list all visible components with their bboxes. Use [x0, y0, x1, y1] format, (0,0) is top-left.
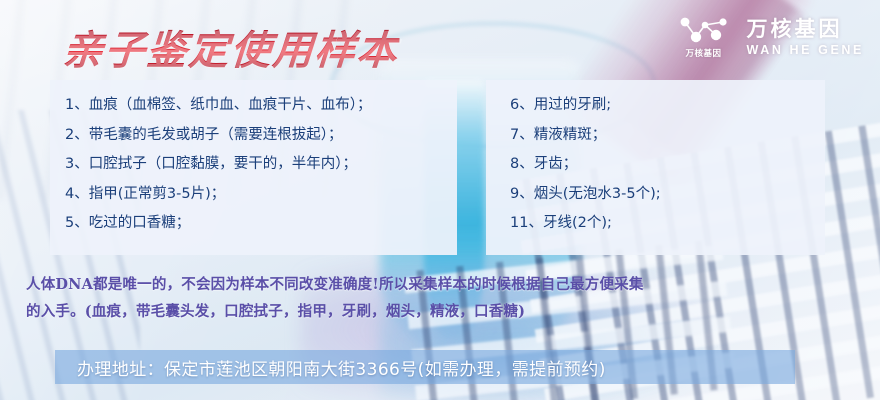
brand-name-en: WAN HE GENE — [747, 43, 865, 58]
list-item: 1、血痕（血棉签、纸巾血、血痕干片、血布）； — [50, 98, 457, 113]
list-item: 5、吃过的口香糖； — [50, 216, 457, 231]
sample-list-right: 6、用过的牙刷; 7、精液精斑； 8、牙齿； 9、烟头(无泡水3-5个); 11… — [486, 80, 825, 231]
brand-logo: 万核基因 万核基因 WAN HE GENE — [673, 16, 865, 60]
list-item: 2、带毛囊的毛发或胡子（需要连根拔起）； — [50, 128, 457, 143]
sample-list-panel-right: 6、用过的牙刷; 7、精液精斑； 8、牙齿； 9、烟头(无泡水3-5个); 11… — [486, 80, 825, 255]
list-item: 9、烟头(无泡水3-5个); — [486, 187, 825, 202]
list-item: 8、牙齿； — [486, 157, 825, 172]
note-line-1: 人体DNA都是唯一的，不会因为样本不同改变准确度!所以采集样本的时候根据自己最方… — [26, 272, 861, 299]
poster-root: 亲子鉴定使用样本 万核基因 万核基因 WAN HE GENE 1、血痕（血棉签 — [0, 0, 880, 400]
list-item: 7、精液精斑； — [486, 128, 825, 143]
list-item: 4、指甲(正常剪3-5片)； — [50, 187, 457, 202]
sample-list-panel-left: 1、血痕（血棉签、纸巾血、血痕干片、血布）； 2、带毛囊的毛发或胡子（需要连根拔… — [50, 80, 457, 255]
logo-mark: 万核基因 — [673, 16, 735, 60]
list-item: 6、用过的牙刷; — [486, 98, 825, 113]
logo-mark-sublabel: 万核基因 — [685, 47, 721, 59]
note-paragraph: 人体DNA都是唯一的，不会因为样本不同改变准确度!所以采集样本的时候根据自己最方… — [26, 272, 861, 326]
page-title: 亲子鉴定使用样本 — [61, 18, 401, 76]
address-text: 办理地址：保定市莲池区朝阳南大街3366号(如需办理，需提前预约) — [55, 355, 606, 380]
address-banner: 办理地址：保定市莲池区朝阳南大街3366号(如需办理，需提前预约) — [55, 350, 795, 384]
brand-name-cn: 万核基因 — [747, 18, 843, 42]
note-line-2: 的入手。(血痕，带毛囊头发，口腔拭子，指甲，牙刷，烟头，精液，口香糖) — [26, 299, 861, 326]
sample-list-left: 1、血痕（血棉签、纸巾血、血痕干片、血布）； 2、带毛囊的毛发或胡子（需要连根拔… — [50, 80, 457, 231]
list-item: 11、牙线(2个); — [486, 216, 825, 231]
logo-text: 万核基因 WAN HE GENE — [747, 18, 865, 57]
list-item: 3、口腔拭子（口腔黏膜，要干的，半年内）； — [50, 157, 457, 172]
molecule-network-icon — [676, 16, 732, 46]
